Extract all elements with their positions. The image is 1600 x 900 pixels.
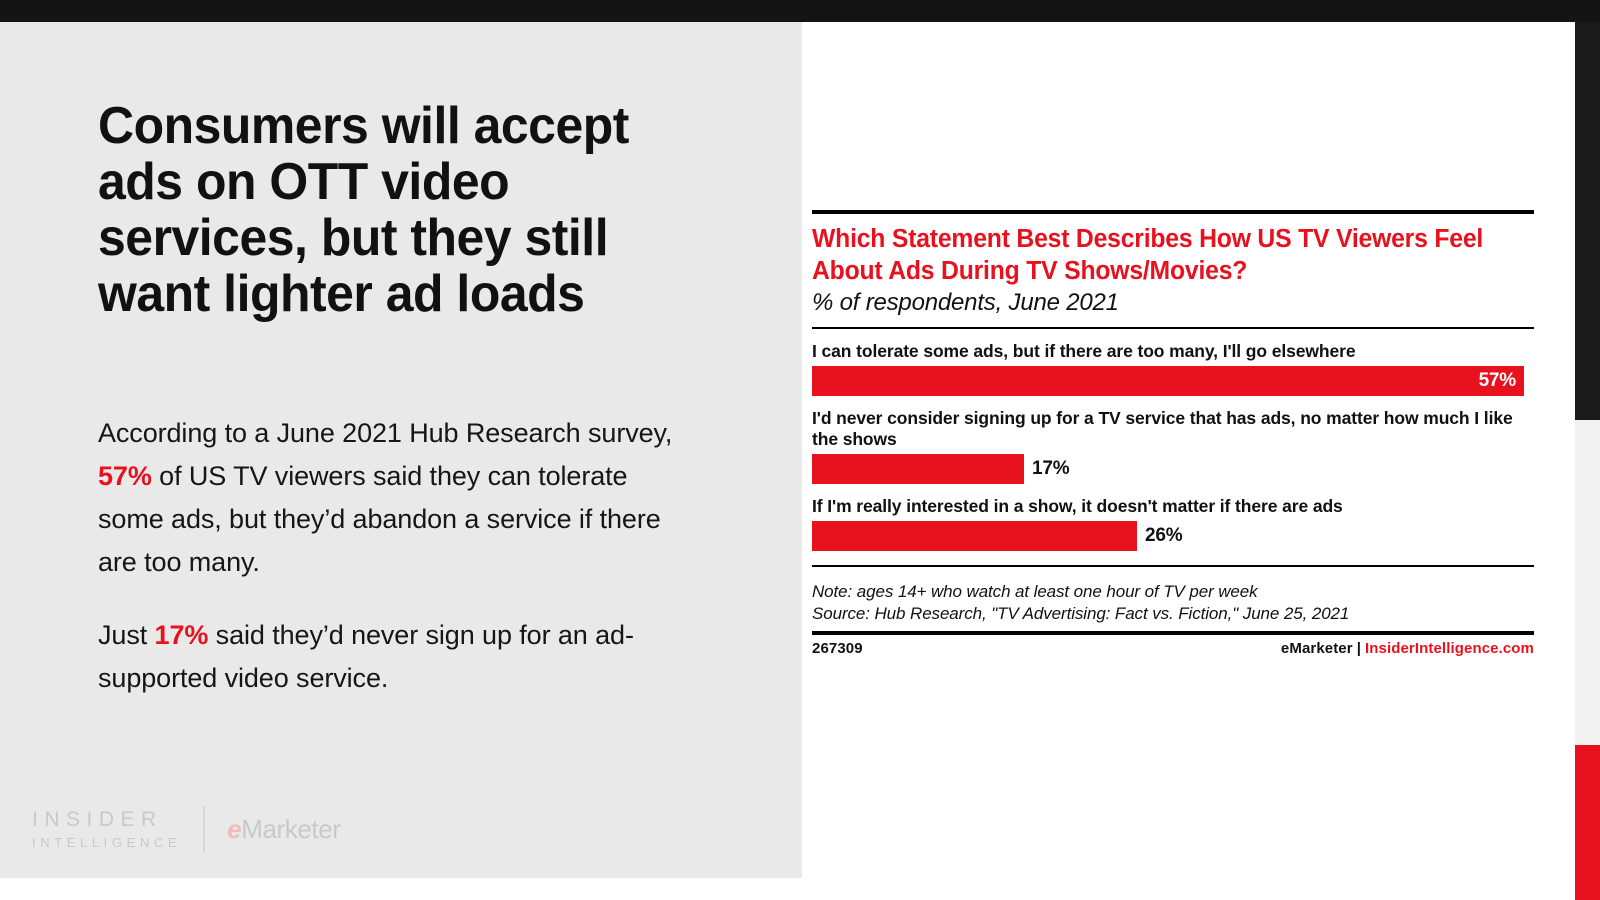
chart-id: 267309 bbox=[812, 640, 863, 657]
paragraph-1-text-after: of US TV viewers said they can tolerate … bbox=[98, 461, 661, 577]
logo-divider bbox=[203, 806, 205, 852]
top-black-band bbox=[0, 0, 1600, 22]
body-copy: According to a June 2021 Hub Research su… bbox=[98, 412, 698, 700]
chart-credit: eMarketer|InsiderIntelligence.com bbox=[1281, 640, 1534, 657]
chart-source: Source: Hub Research, "TV Advertising: F… bbox=[812, 603, 1534, 625]
emarketer-logo: eMarketer bbox=[227, 814, 340, 845]
paragraph-1-highlight: 57% bbox=[98, 461, 152, 491]
credit-separator: | bbox=[1353, 640, 1365, 657]
chart-notes: Note: ages 14+ who watch at least one ho… bbox=[812, 581, 1534, 625]
brand-logo-lockup: INSIDER INTELLIGENCE eMarketer bbox=[32, 806, 341, 852]
chart-inner: Which Statement Best Describes How US TV… bbox=[812, 210, 1534, 657]
chart-title: Which Statement Best Describes How US TV… bbox=[812, 223, 1512, 287]
insider-logo-line-1: INSIDER bbox=[32, 809, 181, 830]
paragraph-2-text-before: Just bbox=[98, 620, 155, 650]
bar-chart-plot: I can tolerate some ads, but if there ar… bbox=[812, 329, 1534, 551]
bar-category-label: I'd never consider signing up for a TV s… bbox=[812, 408, 1524, 450]
bar-row: 17% bbox=[812, 454, 1534, 484]
body-paragraph-1: According to a June 2021 Hub Research su… bbox=[98, 412, 698, 584]
chart-notes-top-rule bbox=[812, 565, 1534, 567]
left-editorial-panel: Consumers will accept ads on OTT video s… bbox=[0, 22, 802, 878]
paragraph-2-highlight: 17% bbox=[155, 620, 209, 650]
bar-group: I can tolerate some ads, but if there ar… bbox=[812, 341, 1534, 396]
slide-canvas: Consumers will accept ads on OTT video s… bbox=[0, 0, 1600, 900]
page-headline: Consumers will accept ads on OTT video s… bbox=[98, 98, 684, 322]
emarketer-logo-e: e bbox=[227, 814, 241, 844]
chart-top-rule bbox=[812, 210, 1534, 214]
credit-site-link[interactable]: InsiderIntelligence.com bbox=[1365, 640, 1534, 657]
paragraph-1-text-before: According to a June 2021 Hub Research su… bbox=[98, 418, 672, 448]
bar-group: If I'm really interested in a show, it d… bbox=[812, 496, 1534, 551]
chart-footer: 267309 eMarketer|InsiderIntelligence.com bbox=[812, 640, 1534, 657]
right-edge-dark-band bbox=[1575, 22, 1600, 420]
right-edge-red-band bbox=[1575, 745, 1600, 900]
insider-logo-line-2: INTELLIGENCE bbox=[32, 836, 181, 849]
chart-subtitle: % of respondents, June 2021 bbox=[812, 288, 1534, 318]
bar-group: I'd never consider signing up for a TV s… bbox=[812, 408, 1534, 484]
chart-note: Note: ages 14+ who watch at least one ho… bbox=[812, 581, 1534, 603]
bar-row: 26% bbox=[812, 521, 1534, 551]
bar-fill[interactable]: 57% bbox=[812, 366, 1524, 396]
emarketer-logo-word: Marketer bbox=[241, 814, 340, 844]
bar-category-label: I can tolerate some ads, but if there ar… bbox=[812, 341, 1524, 362]
credit-brand: eMarketer bbox=[1281, 640, 1353, 657]
bar-fill[interactable] bbox=[812, 454, 1024, 484]
chart-card: Which Statement Best Describes How US TV… bbox=[802, 22, 1575, 878]
bar-row: 57% bbox=[812, 366, 1534, 396]
bar-fill[interactable] bbox=[812, 521, 1137, 551]
bar-value-label: 26% bbox=[1137, 521, 1182, 551]
right-edge-light-band bbox=[1575, 420, 1600, 745]
bar-category-label: If I'm really interested in a show, it d… bbox=[812, 496, 1524, 517]
bar-value-label: 57% bbox=[1479, 370, 1524, 392]
chart-footer-rule bbox=[812, 631, 1534, 635]
body-paragraph-2: Just 17% said they’d never sign up for a… bbox=[98, 614, 698, 700]
insider-intelligence-logo: INSIDER INTELLIGENCE bbox=[32, 809, 181, 849]
bar-value-label: 17% bbox=[1024, 454, 1069, 484]
